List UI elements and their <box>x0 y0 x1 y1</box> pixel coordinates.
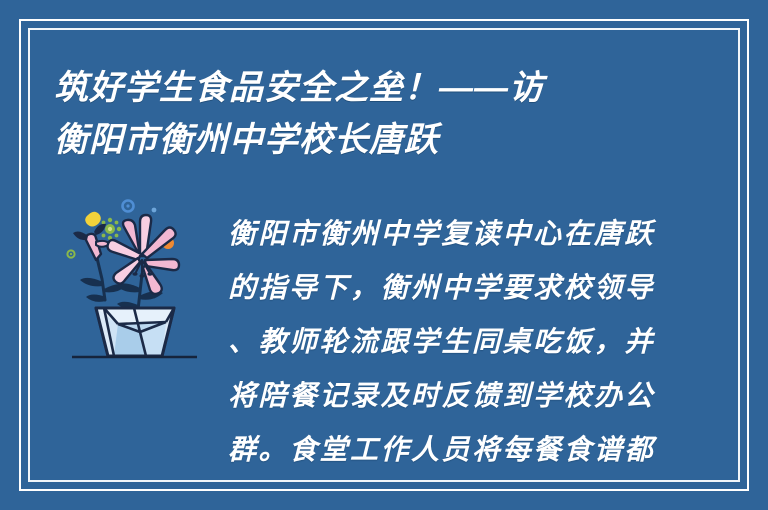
body-line: 的指导下，衡州中学要求校领导 <box>228 262 658 316</box>
tiny-dot-group <box>67 250 74 257</box>
green-starburst-center-icon <box>108 227 112 231</box>
lily-bud <box>73 224 110 260</box>
blue-circle-center-dot-icon <box>126 204 129 207</box>
headline-line-2: 衡阳市衡州中学校长唐跃 <box>54 114 714 166</box>
lily-bloom <box>108 215 179 294</box>
headline-line-1: 筑好学生食品安全之垒！——访 <box>54 62 714 114</box>
body-copy-block: 衡阳市衡州中学复读中心在唐跃 的指导下，衡州中学要求校领导 、教师轮流跟学生同桌… <box>228 208 658 478</box>
body-line: 衡阳市衡州中学复读中心在唐跃 <box>228 208 658 262</box>
body-line: 、教师轮流跟学生同桌吃饭，并 <box>228 316 658 370</box>
body-line: 群。食堂工作人员将每餐食谱都 <box>228 424 658 478</box>
lily-flowers-in-vase-illustration <box>62 196 212 371</box>
headline-block: 筑好学生食品安全之垒！——访 衡阳市衡州中学校长唐跃 <box>54 62 714 166</box>
faceted-vase <box>96 308 174 356</box>
body-line: 将陪餐记录及时反馈到学校办公 <box>228 370 658 424</box>
yellow-blob-icon <box>85 212 101 227</box>
poster-canvas: 筑好学生食品安全之垒！——访 衡阳市衡州中学校长唐跃 <box>0 0 768 510</box>
small-dot-icon-a <box>152 208 157 213</box>
